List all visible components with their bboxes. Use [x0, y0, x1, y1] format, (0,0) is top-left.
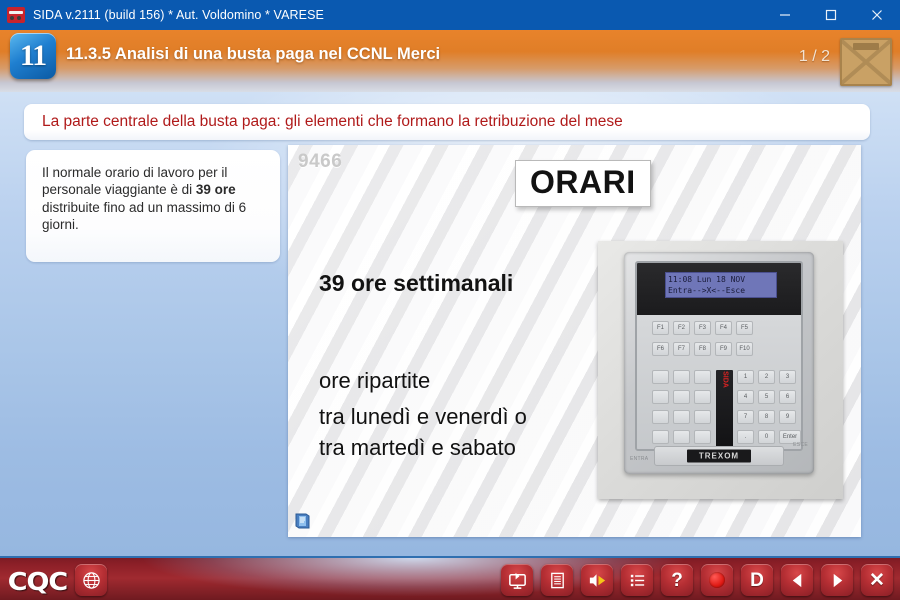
key-f1: F1 [652, 321, 669, 335]
terminal-brand-logo: TREXOM [687, 450, 751, 463]
key-func-2 [673, 370, 690, 384]
orari-title-text: ORARI [530, 164, 636, 200]
slide-watermark-number: 9466 [298, 151, 342, 173]
terminal-badge-slot: TREXOM [654, 446, 784, 466]
terminal-screen-band: 11:08 Lun 18 NOV Entra-->X<--Esce [637, 263, 801, 315]
letter-d-icon: D [750, 571, 764, 590]
keypad-fkeys-row-1: F1 F2 F3 F4 F5 [652, 321, 803, 335]
terminal-side-strip: SIDA [716, 370, 733, 450]
question-icon: ? [671, 571, 683, 590]
side-note-card: Il normale orario di lavoro per il perso… [26, 150, 280, 262]
key-out [652, 430, 669, 444]
module-number-label: 11 [20, 41, 46, 71]
module-number-badge: 11 [10, 33, 56, 79]
window-controls [762, 0, 900, 30]
key-f2: F2 [673, 321, 690, 335]
document-button[interactable] [541, 564, 573, 596]
key-func-9 [694, 410, 711, 424]
key-func-6 [694, 390, 711, 404]
key-func-7 [652, 410, 669, 424]
subtitle-banner: La parte centrale della busta paga: gli … [24, 104, 870, 140]
key-func-4 [652, 390, 669, 404]
time-clock-terminal-photo: 11:08 Lun 18 NOV Entra-->X<--Esce F1 F2 … [598, 241, 843, 499]
key-f9: F9 [715, 342, 732, 356]
keypad-fkeys-row-2: F6 F7 F8 F9 F10 [652, 342, 803, 356]
maximize-button[interactable] [808, 0, 854, 30]
arrow-left-icon [789, 572, 806, 589]
screen-button[interactable] [501, 564, 533, 596]
audio-play-button[interactable] [581, 564, 613, 596]
speaker-play-icon [587, 570, 608, 591]
x-icon: ✕ [869, 571, 885, 590]
close-button[interactable]: ✕ [861, 564, 893, 596]
terminal-inner-panel: 11:08 Lun 18 NOV Entra-->X<--Esce F1 F2 … [635, 261, 803, 451]
subtitle-text: La parte centrale della busta paga: gli … [42, 113, 623, 131]
minimize-button[interactable] [762, 0, 808, 30]
key-func-10 [673, 430, 690, 444]
key-func-1 [652, 370, 669, 384]
key-f5: F5 [736, 321, 753, 335]
key-func-5 [673, 390, 690, 404]
slide-line-2: tra lunedì e venerdì o [319, 404, 527, 430]
side-note-text: Il normale orario di lavoro per il perso… [42, 164, 266, 233]
key-func-3 [694, 370, 711, 384]
window-title: SIDA v.2111 (build 156) * Aut. Voldomino… [33, 8, 324, 22]
key-func-11 [694, 430, 711, 444]
dictionary-button[interactable]: D [741, 564, 773, 596]
document-icon [548, 571, 567, 590]
content-stage: La parte centrale della busta paga: gli … [0, 92, 900, 556]
globe-button[interactable] [75, 564, 107, 596]
page-title: 11.3.5 Analisi di una busta paga nel CCN… [66, 45, 440, 64]
key-f8: F8 [694, 342, 711, 356]
key-func-8 [673, 410, 690, 424]
crate-icon [840, 38, 892, 86]
side-note-highlight: 39 ore [196, 182, 236, 197]
next-button[interactable] [821, 564, 853, 596]
lesson-header: 11 11.3.5 Analisi di una busta paga nel … [0, 30, 900, 92]
terminal-outer-frame: 11:08 Lun 18 NOV Entra-->X<--Esce F1 F2 … [624, 252, 814, 474]
terminal-esce-tag: ESCE [793, 442, 808, 448]
globe-icon [82, 571, 101, 590]
monitor-icon [507, 570, 528, 591]
slide-heading: 39 ore settimanali [319, 270, 513, 297]
crate-label-plate [853, 43, 879, 50]
key-f7: F7 [673, 342, 690, 356]
slide-panel: 9466 ORARI 39 ore settimanali ore ripart… [288, 145, 861, 537]
book-icon[interactable] [293, 511, 313, 531]
terminal-keypad: F1 F2 F3 F4 F5 F6 F7 F8 F9 [637, 315, 801, 451]
list-icon [628, 571, 647, 590]
bottom-toolbar: CQC [0, 556, 900, 600]
page-indicator: 1 / 2 [799, 48, 830, 66]
help-button[interactable]: ? [661, 564, 693, 596]
side-note-part2: distribuite fino ad un massimo di 6 gior… [42, 200, 246, 232]
key-f3: F3 [694, 321, 711, 335]
arrow-right-icon [829, 572, 846, 589]
terminal-strip-label: SIDA [721, 371, 728, 388]
lcd-line-1: 11:08 Lun 18 NOV [668, 274, 774, 285]
terminal-lcd-display: 11:08 Lun 18 NOV Entra-->X<--Esce [665, 272, 777, 298]
cqc-logo: CQC [8, 567, 67, 596]
terminal-entra-tag: ENTRA [630, 456, 648, 462]
key-f4: F4 [715, 321, 732, 335]
slide-line-1: ore ripartite [319, 368, 430, 394]
lcd-line-2: Entra-->X<--Esce [668, 285, 774, 296]
window-titlebar[interactable]: SIDA v.2111 (build 156) * Aut. Voldomino… [0, 0, 900, 30]
record-button[interactable] [701, 564, 733, 596]
truck-icon [7, 7, 25, 23]
application-window: SIDA v.2111 (build 156) * Aut. Voldomino… [0, 0, 900, 600]
close-window-button[interactable] [854, 0, 900, 30]
previous-button[interactable] [781, 564, 813, 596]
key-f10: F10 [736, 342, 753, 356]
record-dot-icon [709, 572, 725, 588]
index-list-button[interactable] [621, 564, 653, 596]
key-f6: F6 [652, 342, 669, 356]
orari-title-box: ORARI [515, 160, 651, 207]
slide-line-3: tra martedì e sabato [319, 435, 516, 461]
